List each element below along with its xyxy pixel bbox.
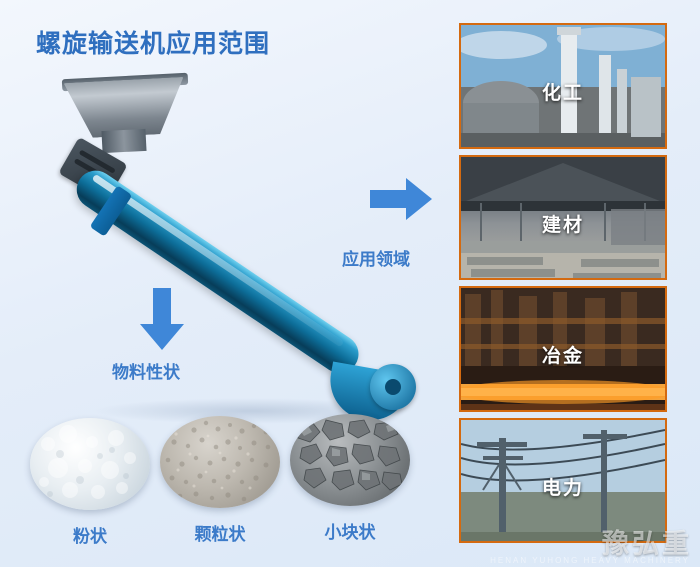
sample-lump: 小块状 [290,414,410,518]
poster-canvas: 螺旋输送机应用范围 应用领域 物料性状 [0,0,700,567]
sample-label-powder: 粉状 [30,522,150,547]
photo-caption-power: 电力 [461,473,665,500]
photo-metallurgy: 冶金 [459,286,667,412]
label-application-field: 应用领域 [342,245,410,270]
hopper-neck-icon [101,129,146,153]
sample-granule: 颗粒状 [160,416,280,520]
tube-highlight [92,174,345,348]
label-material-form: 物料性状 [112,358,180,383]
page-title: 螺旋输送机应用范围 [36,24,270,60]
sample-label-granule: 颗粒状 [160,520,280,545]
arrow-right-icon [370,178,432,220]
material-samples-group: 粉状 [18,408,438,558]
powder-sample-icon [30,418,150,510]
application-photo-column: 化工 建材 [459,23,667,543]
photo-caption-chemical: 化工 [461,78,665,105]
watermark-subtext: HENAN YUHONG HEAVY MACHINERY [490,556,690,565]
sample-powder: 粉状 [30,418,150,522]
screw-conveyor-illustration [40,68,430,378]
photo-power: 电力 [459,418,667,544]
sample-label-lump: 小块状 [290,518,410,543]
tube-endcap-icon [370,364,416,410]
photo-caption-building: 建材 [461,210,665,237]
arrow-down-icon [140,288,184,350]
granule-sample-icon [160,416,280,508]
photo-chemical-plant: 化工 [459,23,667,149]
photo-building-materials: 建材 [459,155,667,281]
photo-caption-metallurgy: 冶金 [461,341,665,368]
lump-sample-icon [290,414,410,506]
